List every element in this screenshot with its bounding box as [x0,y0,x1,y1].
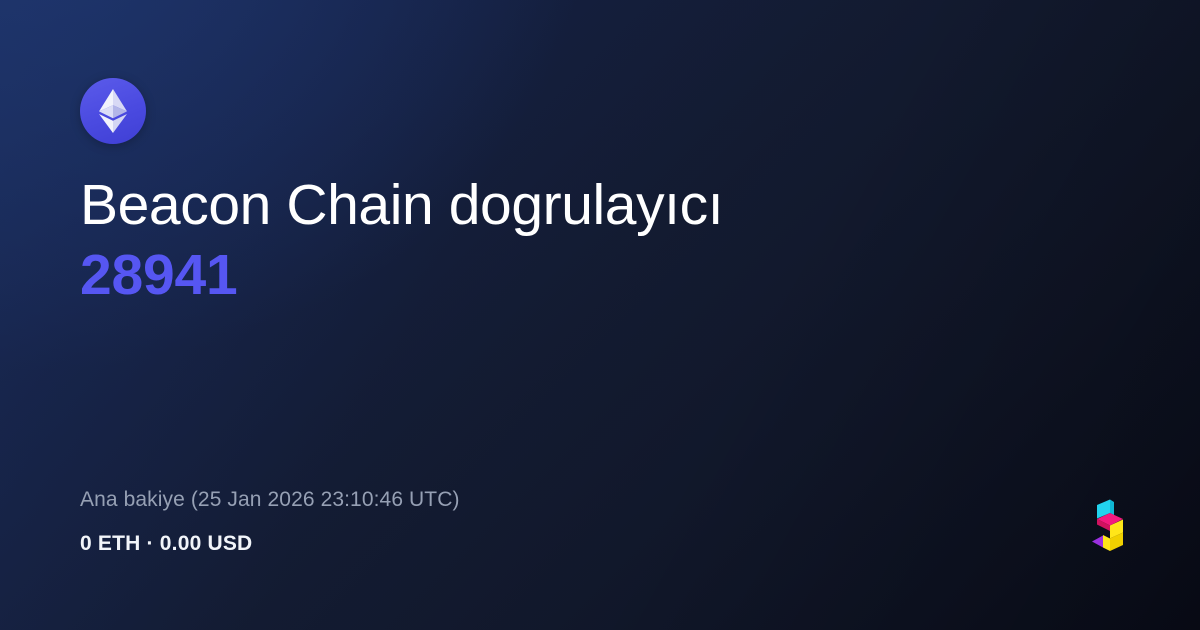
og-card: Beacon Chain dogrulayıcı 28941 Ana bakiy… [0,0,1200,630]
ethereum-badge [80,78,146,144]
balance-label: Ana bakiye (25 Jan 2026 23:10:46 UTC) [80,486,1120,514]
layout-spacer [80,310,1120,486]
ethereum-diamond-icon [98,89,128,133]
page-title: Beacon Chain dogrulayıcı [80,170,1080,240]
validator-index: 28941 [80,240,1080,310]
beaconchain-isometric-logo [1086,498,1132,556]
card-content: Beacon Chain dogrulayıcı 28941 Ana bakiy… [0,0,1200,630]
headline: Beacon Chain dogrulayıcı 28941 [80,170,1080,310]
balance-value: 0 ETH · 0.00 USD [80,530,1120,558]
balance-block: Ana bakiye (25 Jan 2026 23:10:46 UTC) 0 … [80,486,1120,558]
